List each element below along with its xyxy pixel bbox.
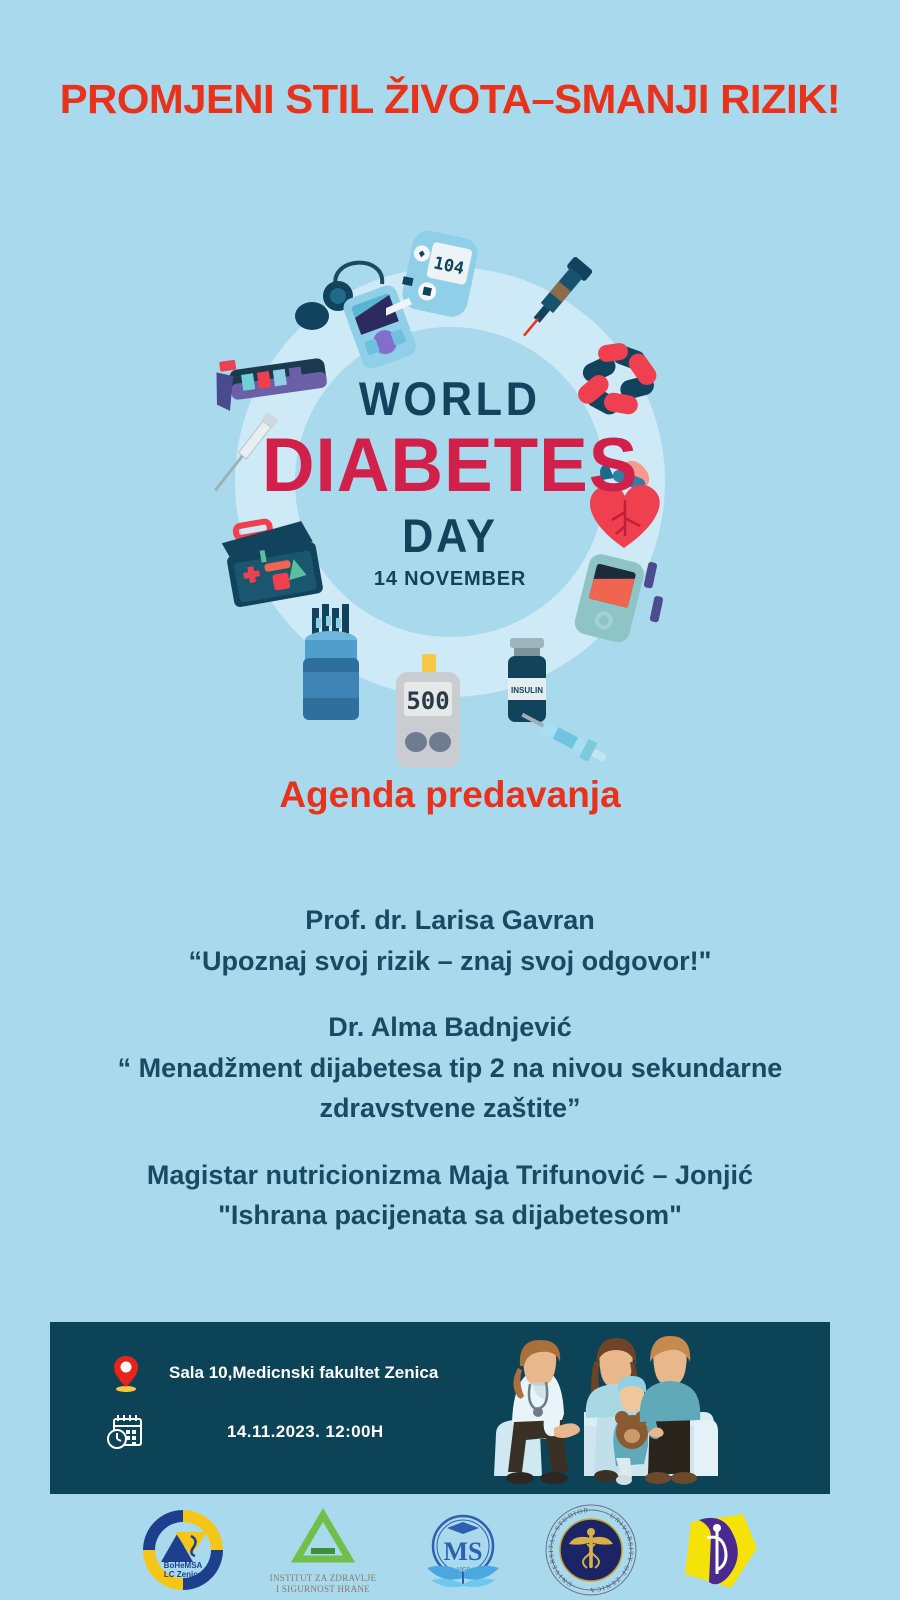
agenda-speaker-2: Dr. Alma Badnjević “ Menadžment dijabete… xyxy=(40,1007,860,1129)
speaker-2-topic-line-1: “ Menadžment dijabetesa tip 2 na nivou s… xyxy=(40,1048,860,1089)
map-pin-icon xyxy=(105,1354,147,1392)
sponsor-logos: BoHeMSA LC Zenica INSTITUT ZA ZDRAVLJE I… xyxy=(0,1500,900,1600)
institut-line2: I SIGURNOST HRANE xyxy=(276,1584,370,1594)
event-location-text: Sala 10,Medicnski fakultet Zenica xyxy=(169,1363,438,1383)
institut-line1: INSTITUT ZA ZDRAVLJE xyxy=(270,1573,377,1583)
institut-caption: INSTITUT ZA ZDRAVLJE I SIGURNOST HRANE xyxy=(270,1573,377,1596)
speaker-3-name: Magistar nutricionizma Maja Trifunović –… xyxy=(40,1155,860,1196)
speaker-2-name: Dr. Alma Badnjević xyxy=(40,1007,860,1048)
bohemsa-lc-zenica-logo: BoHeMSA LC Zenica xyxy=(137,1504,229,1596)
event-datetime-row: 14.11.2023. 12:00H xyxy=(105,1412,384,1452)
page-title: PROMJENI STIL ŽIVOTA–SMANJI RIZIK! xyxy=(0,76,900,123)
doctor-consulting-family-illustration xyxy=(488,1262,718,1494)
hero-date: 14 NOVEMBER xyxy=(374,569,526,589)
bohemsa-caption: BoHeMSA LC Zenica xyxy=(164,1561,203,1580)
institut-za-zdravlje-logo: INSTITUT ZA ZDRAVLJE I SIGURNOST HRANE xyxy=(263,1507,383,1593)
poster-root: PROMJENI STIL ŽIVOTA–SMANJI RIZIK! xyxy=(0,0,900,1600)
speaker-2-topic-line-2: zdravstvene zaštite” xyxy=(40,1088,860,1129)
agenda-program-list: Prof. dr. Larisa Gavran “Upoznaj svoj ri… xyxy=(40,900,860,1236)
hero-text-group: WORLD DIABETES DAY 14 NOVEMBER xyxy=(190,212,710,752)
bohemsa-line2: LC Zenica xyxy=(164,1570,202,1579)
hero-line-diabetes: DIABETES xyxy=(262,428,639,504)
calendar-clock-icon xyxy=(105,1412,147,1452)
udruzenje-dijabeticara-logo: D xyxy=(673,1504,763,1596)
world-diabetes-day-graphic: 104 xyxy=(190,212,710,752)
agenda-title: Agenda predavanja xyxy=(0,774,900,816)
event-datetime-text: 14.11.2023. 12:00H xyxy=(227,1422,384,1442)
svg-text:MS: MS xyxy=(444,1537,483,1566)
speaker-3-topic: "Ishrana pacijenata sa dijabetesom" xyxy=(40,1195,860,1236)
agenda-speaker-1: Prof. dr. Larisa Gavran “Upoznaj svoj ri… xyxy=(40,900,860,981)
univerzitet-u-zenici-medicinski-fakultet-logo: UNIVERSITAS STUDIORUM UNIVERSITY OF ZENI… xyxy=(543,1502,639,1598)
bohemsa-line1: BoHeMSA xyxy=(164,1561,203,1570)
hero-line-world: WORLD xyxy=(359,375,541,422)
speaker-1-name: Prof. dr. Larisa Gavran xyxy=(40,900,860,941)
hero-line-day: DAY xyxy=(402,512,498,559)
medicinska-skola-zenica-logo: MS 1959 xyxy=(417,1506,509,1594)
event-location-row: Sala 10,Medicnski fakultet Zenica xyxy=(105,1354,438,1392)
speaker-1-topic: “Upoznaj svoj rizik – znaj svoj odgovor!… xyxy=(40,941,860,982)
agenda-speaker-3: Magistar nutricionizma Maja Trifunović –… xyxy=(40,1155,860,1236)
